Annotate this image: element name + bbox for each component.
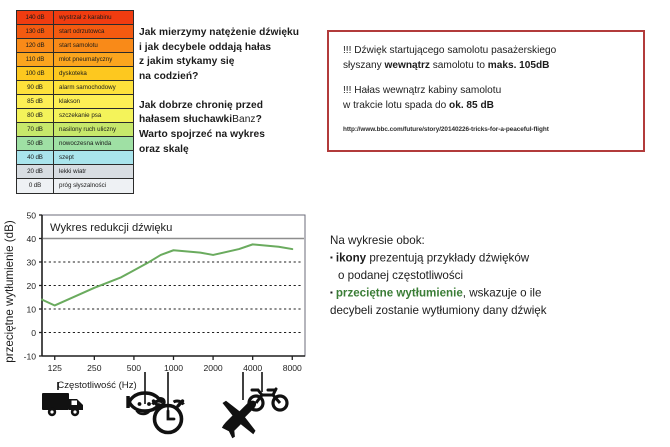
noise-level-value: 20 dB — [17, 165, 54, 178]
question-mark: ? — [256, 114, 262, 125]
noise-level-row: 120 dBstart samolotu — [17, 39, 133, 53]
y-tick-label: 0 — [31, 328, 36, 338]
fact-line: !!! Dźwięk startującego samolotu pasażer… — [343, 44, 631, 59]
question-line: na codzień? — [139, 70, 329, 85]
fact-text: w trakcie lotu spada do — [343, 100, 449, 111]
y-tick-label: 10 — [26, 304, 36, 314]
question-paragraph-2: Jak dobrze chronię przed hałasem słuchaw… — [139, 99, 329, 157]
noise-level-value: 100 dB — [17, 67, 54, 80]
noise-level-scale-table: 140 dBwystrzał z karabinu130 dBstart odr… — [16, 10, 134, 194]
legend-bullet-icons: ▪ikony prezentują przykłady dźwięków — [330, 249, 660, 267]
noise-level-value: 50 dB — [17, 137, 54, 150]
legend-bullet-attenuation: ▪przeciętne wytłumienie, wskazuje o ile — [330, 284, 660, 302]
fact-emphasis: wewnątrz — [385, 60, 430, 71]
noise-level-value: 85 dB — [17, 95, 54, 108]
y-axis-label: przeciętne wytłumienie (dB) — [3, 220, 16, 363]
noise-level-row: 0 dBpróg słyszalności — [17, 179, 133, 193]
question-line: hałasem słuchawkiBanz? — [139, 113, 329, 128]
noise-source-label: próg słyszalności — [54, 179, 133, 193]
noise-level-value: 120 dB — [17, 39, 54, 52]
bullet-icon: ▪ — [330, 253, 333, 262]
fact-line: słyszany wewnątrz samolotu to maks. 105d… — [343, 59, 631, 74]
chart-title: Wykres redukcji dźwięku — [50, 222, 172, 234]
spacer — [343, 73, 631, 84]
truck-icon — [42, 393, 83, 416]
noise-level-row: 110 dBmłot pneumatyczny — [17, 53, 133, 67]
noise-source-label: lekki wiatr — [54, 165, 133, 178]
legend-continuation: o podanej częstotliwości — [330, 267, 660, 284]
fact-value: ok. 85 dB — [449, 100, 494, 111]
noise-level-value: 40 dB — [17, 151, 54, 164]
bullet-icon: ▪ — [330, 288, 333, 297]
noise-level-value: 70 dB — [17, 123, 54, 136]
chart-legend-description: Na wykresie obok: ▪ikony prezentują przy… — [330, 232, 660, 319]
legend-term-green: przeciętne wytłumienie — [336, 287, 463, 300]
fact-callout-box: !!! Dźwięk startującego samolotu pasażer… — [327, 30, 645, 152]
fact-text: słyszany — [343, 60, 385, 71]
question-line-text: hałasem słuchawki — [139, 114, 232, 125]
noise-source-label: młot pneumatyczny — [54, 53, 133, 66]
noise-level-value: 130 dB — [17, 25, 54, 38]
noise-source-label: wystrzał z karabinu — [54, 11, 133, 24]
question-text-block: Jak mierzymy natężenie dźwięku i jak dec… — [139, 26, 329, 157]
noise-level-value: 140 dB — [17, 11, 54, 24]
noise-source-label: dyskoteka — [54, 67, 133, 80]
alarm-clock-icon — [153, 401, 184, 433]
noise-level-value: 90 dB — [17, 81, 54, 94]
noise-level-row: 50 dBnowoczesna winda — [17, 137, 133, 151]
noise-level-row: 140 dBwystrzał z karabinu — [17, 11, 133, 25]
question-line: i jak decybele oddają hałas — [139, 41, 329, 56]
noise-level-row: 70 dBnasilony ruch uliczny — [17, 123, 133, 137]
brand-name: Banz — [232, 114, 255, 125]
legend-continuation: decybeli zostanie wytłumiony dany dźwięk — [330, 302, 660, 319]
legend-heading: Na wykresie obok: — [330, 232, 660, 249]
noise-source-label: alarm samochodowy — [54, 81, 133, 94]
question-line: Jak dobrze chronię przed — [139, 99, 329, 114]
fact-text: samolotu to — [430, 60, 488, 71]
y-tick-label: 20 — [26, 281, 36, 291]
question-line: Warto spojrzeć na wykres — [139, 128, 329, 143]
question-paragraph-1: Jak mierzymy natężenie dźwięku i jak dec… — [139, 26, 329, 84]
question-line: oraz skalę — [139, 143, 329, 158]
noise-level-row: 130 dBstart odrzutowca — [17, 25, 133, 39]
noise-source-label: start odrzutowca — [54, 25, 133, 38]
noise-source-label: nowoczesna winda — [54, 137, 133, 150]
noise-level-row: 40 dBszept — [17, 151, 133, 165]
legend-term: ikony — [336, 252, 366, 265]
legend-text: prezentują przykłady dźwięków — [366, 252, 529, 265]
noise-level-row: 90 dBalarm samochodowy — [17, 81, 133, 95]
noise-level-value: 110 dB — [17, 53, 54, 66]
noise-level-row: 100 dBdyskoteka — [17, 67, 133, 81]
noise-level-value: 0 dB — [17, 179, 54, 193]
noise-source-label: szczekanie psa — [54, 109, 133, 122]
fact-line: w trakcie lotu spada do ok. 85 dB — [343, 99, 631, 114]
fact-value: maks. 105dB — [488, 60, 550, 71]
question-line: Jak mierzymy natężenie dźwięku — [139, 26, 329, 41]
noise-level-row: 80 dBszczekanie psa — [17, 109, 133, 123]
y-tick-label: 30 — [26, 257, 36, 267]
noise-source-label: nasilony ruch uliczny — [54, 123, 133, 136]
source-url-link[interactable]: http://www.bbc.com/future/story/20140226… — [343, 125, 631, 134]
question-line: z jakim stykamy się — [139, 55, 329, 70]
y-tick-label: 40 — [26, 234, 36, 244]
noise-level-row: 85 dBklakson — [17, 95, 133, 109]
noise-source-label: start samolotu — [54, 39, 133, 52]
fact-line: !!! Hałas wewnątrz kabiny samolotu — [343, 84, 631, 99]
noise-level-row: 20 dBlekki wiatr — [17, 165, 133, 179]
noise-source-label: klakson — [54, 95, 133, 108]
frequency-example-icons — [0, 360, 320, 447]
legend-text: , wskazuje o ile — [463, 287, 542, 300]
noise-level-value: 80 dB — [17, 109, 54, 122]
y-tick-label: 50 — [26, 210, 36, 220]
noise-source-label: szept — [54, 151, 133, 164]
